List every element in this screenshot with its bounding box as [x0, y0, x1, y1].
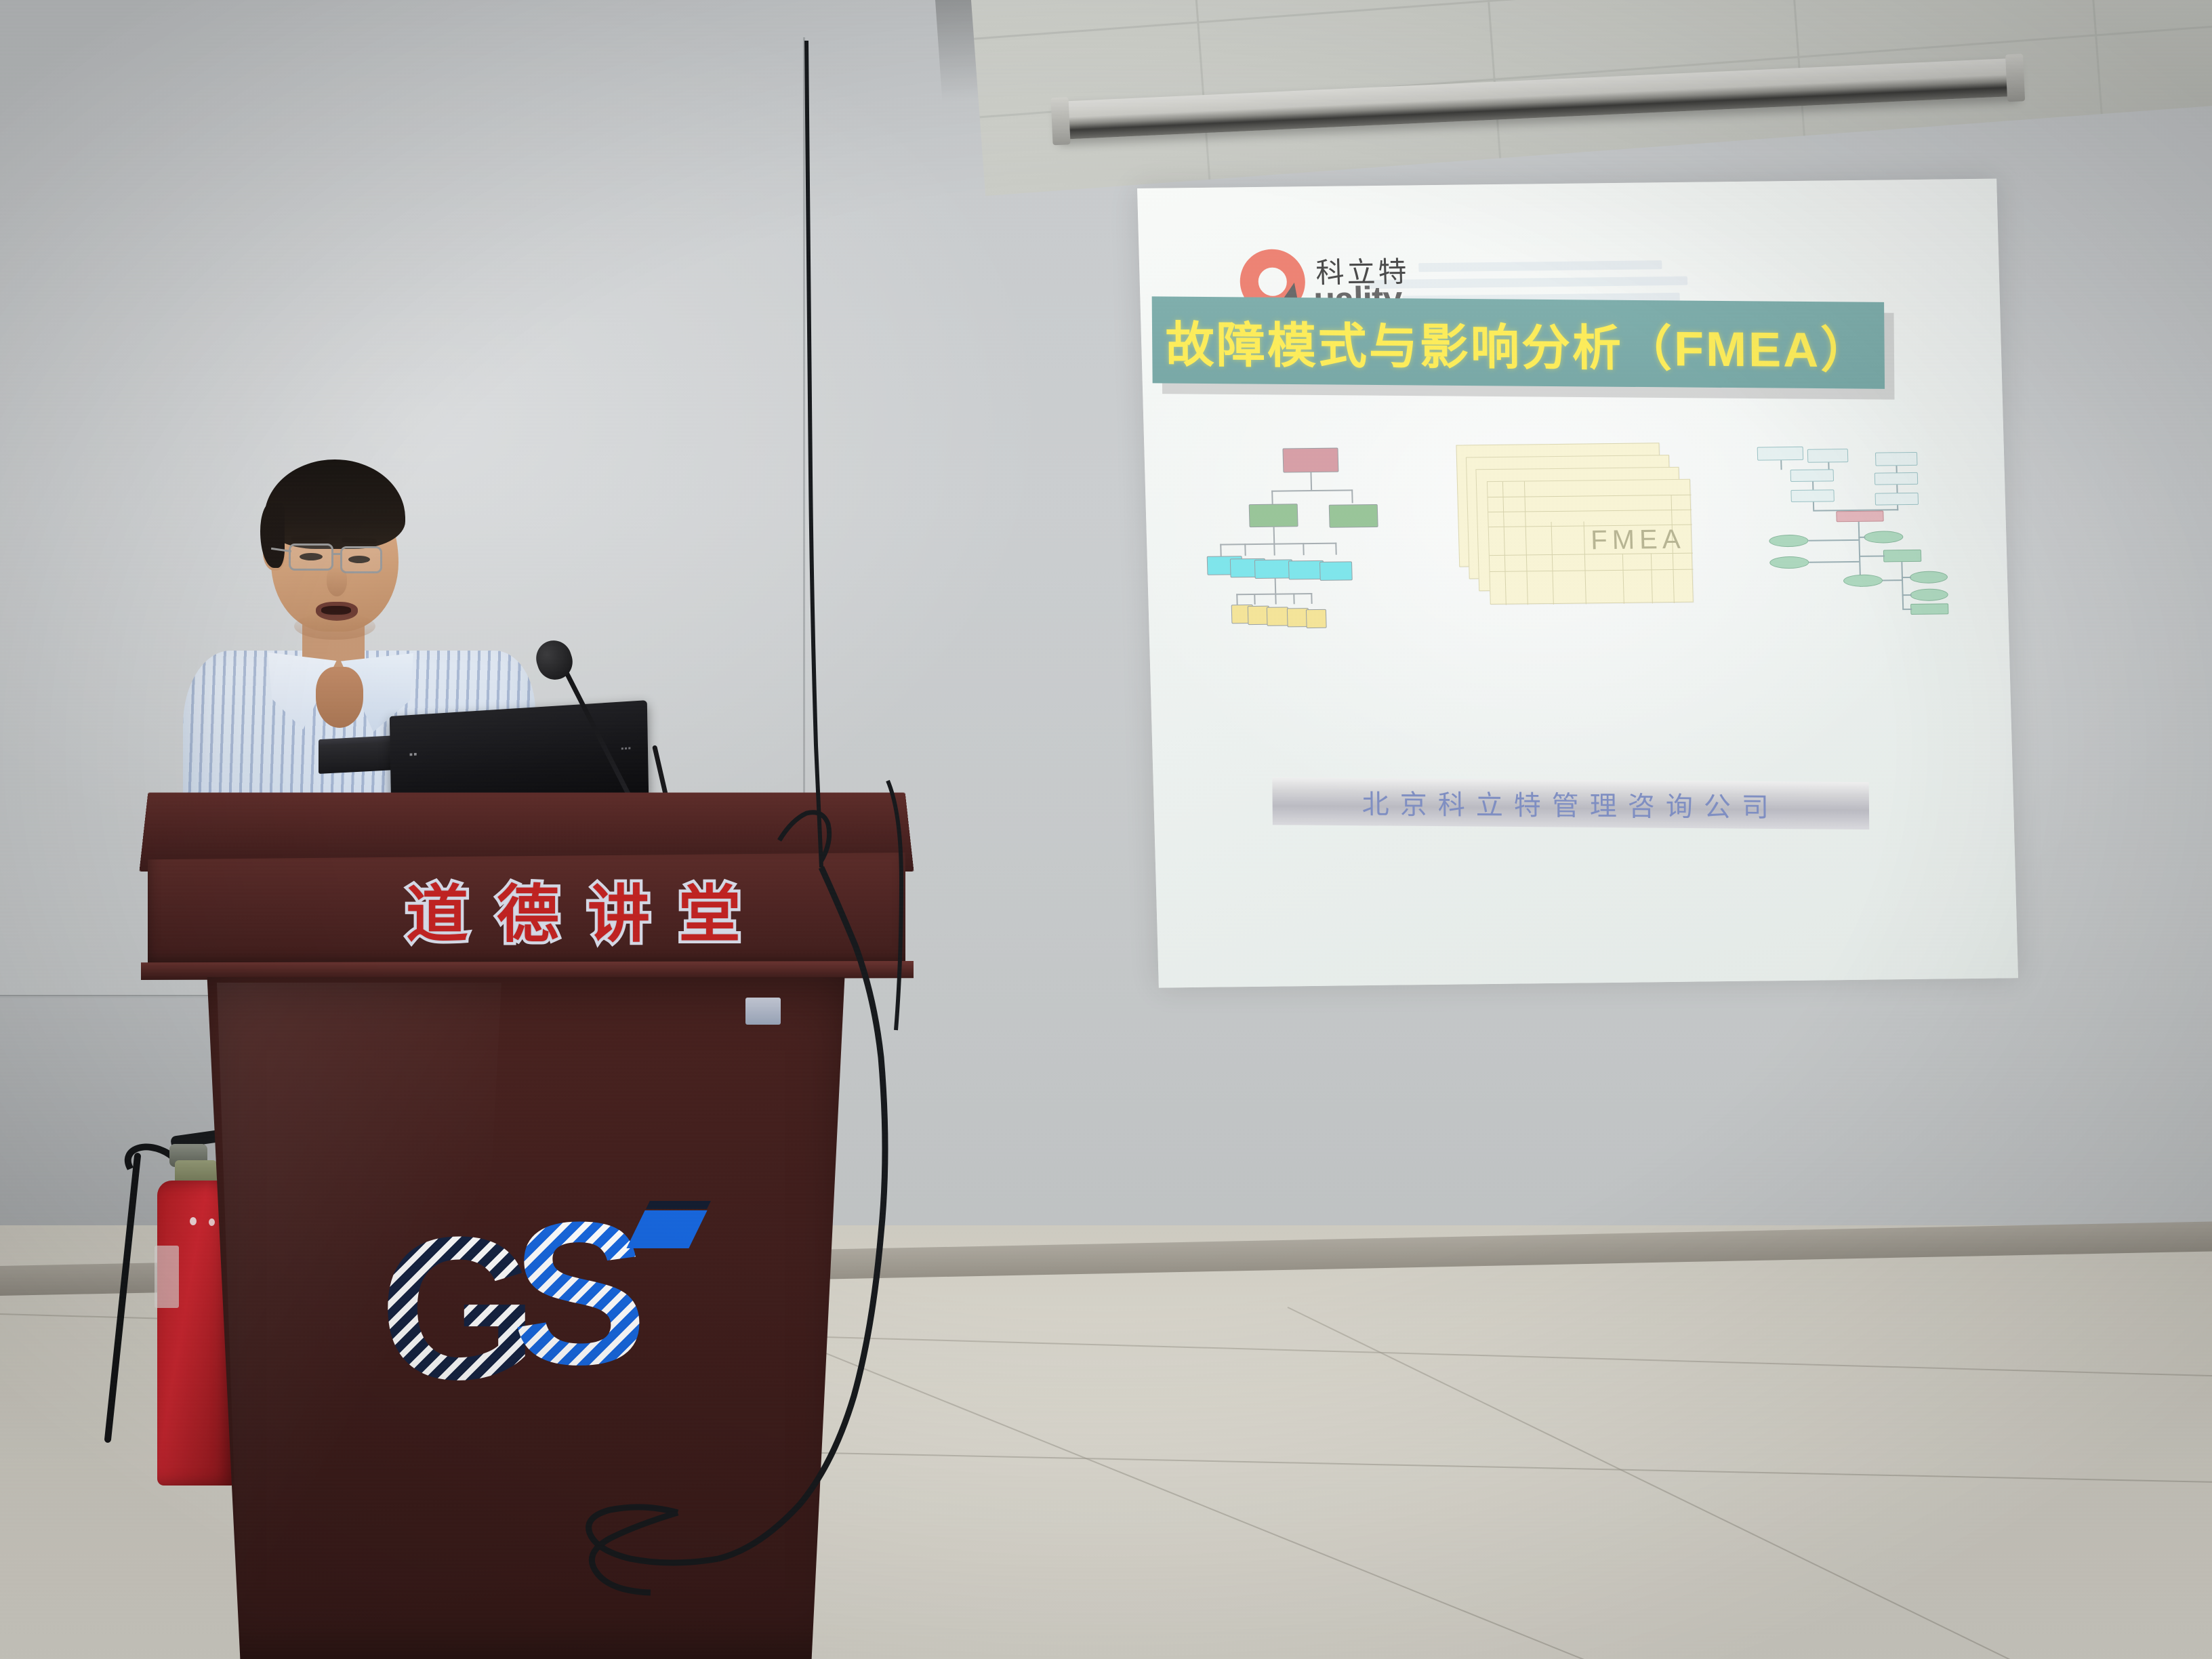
hierarchy-tree-diagram [1212, 443, 1441, 642]
presenter-nose [327, 567, 347, 596]
tree-node-level2 [1249, 504, 1298, 527]
podium-front-panel: 道德讲堂 [148, 853, 905, 968]
slide-diagram: FMEA [1171, 423, 1977, 649]
slide-footer-text: 北京科立特管理咨询公司 [1361, 782, 1780, 825]
presenter-hair [264, 459, 405, 549]
tree-node-level3 [1319, 561, 1353, 581]
tree-node-level3 [1288, 560, 1324, 580]
presenter-chin [294, 613, 375, 640]
projection-screen: 科立特 uality 故障模式与影响分析（FMEA） [1137, 179, 2018, 988]
podium-title-text: 道德讲堂 [406, 864, 769, 954]
slide-title: 故障模式与影响分析（FMEA） [1165, 304, 1871, 381]
laptop-logo: ▪▪ [409, 748, 418, 760]
slide-title-band: 故障模式与影响分析（FMEA） [1152, 296, 1885, 388]
tree-node-level2 [1329, 504, 1378, 528]
shirt-neckline [316, 667, 363, 728]
fmea-worksheet-stack: FMEA [1456, 426, 1746, 632]
process-flowchart [1754, 430, 1983, 636]
eyeglasses-lens-right [340, 546, 382, 573]
laptop-brand-text: ▪▪▪ [621, 743, 632, 754]
podium-label-sticker [745, 998, 781, 1025]
slide-footer-bar: 北京科立特管理咨询公司 [1272, 777, 1869, 829]
eyeglasses-bridge [333, 553, 342, 555]
gs-logo-accent-dark [646, 1201, 711, 1209]
tree-node-level4 [1267, 607, 1289, 626]
eyeglasses-lens-left [289, 544, 333, 571]
wall-seam [803, 37, 805, 796]
tree-node-root [1282, 448, 1338, 473]
podium: 道德讲堂 G S [136, 779, 935, 1659]
gs-brand-logo: G S [380, 1213, 691, 1437]
lecture-hall-photo: 科立特 uality 故障模式与影响分析（FMEA） [0, 0, 2212, 1659]
podium-lip [141, 961, 914, 980]
gs-logo-letter-g: G [380, 1213, 532, 1403]
fmea-worksheet-label: FMEA [1591, 525, 1685, 556]
flowchart-highlight-box [1836, 510, 1883, 522]
tree-node-level3 [1254, 559, 1293, 579]
gs-logo-letter-s: S [512, 1198, 642, 1388]
tree-node-level4 [1306, 609, 1327, 628]
